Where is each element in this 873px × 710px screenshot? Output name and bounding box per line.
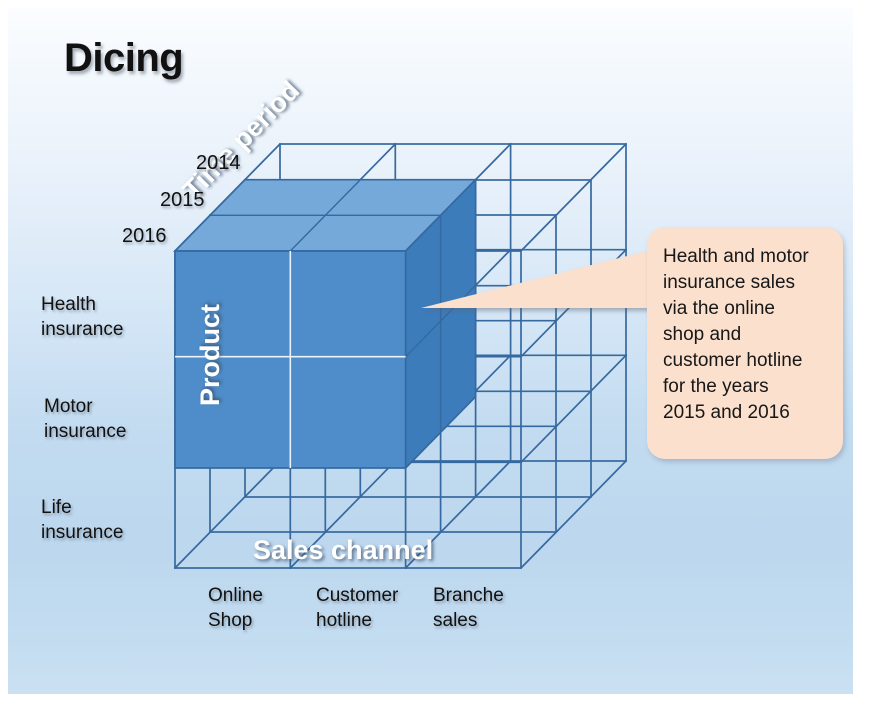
sales-channel-tick-branche-line1: Branche — [433, 583, 504, 608]
slide-background: Dicing — [8, 8, 853, 694]
sales-channel-tick-hotline-line2: hotline — [316, 608, 398, 633]
callout-box: Health and motor insurance sales via the… — [647, 227, 843, 459]
sales-channel-tick-branche-line2: sales — [433, 608, 504, 633]
product-tick-life-line1: Life — [41, 495, 123, 520]
product-tick-health-line1: Health — [41, 292, 123, 317]
sales-channel-tick-online-shop: Online Shop — [208, 583, 263, 633]
callout-line-2: insurance sales — [663, 270, 835, 296]
time-period-tick-2016: 2016 — [122, 224, 167, 249]
sales-channel-tick-online-line1: Online — [208, 583, 263, 608]
product-tick-motor-line2: insurance — [44, 419, 126, 444]
callout-line-4: shop and — [663, 322, 835, 348]
product-tick-motor-insurance: Motor insurance — [44, 394, 126, 444]
product-tick-health-insurance: Health insurance — [41, 292, 123, 342]
product-tick-motor-line1: Motor — [44, 394, 126, 419]
time-period-tick-2014: 2014 — [196, 151, 241, 176]
time-period-tick-2015: 2015 — [160, 188, 205, 213]
sales-channel-tick-hotline-line1: Customer — [316, 583, 398, 608]
callout-line-5: customer hotline — [663, 348, 835, 374]
cube-wireframe — [175, 144, 626, 568]
callout-line-6: for the years — [663, 374, 835, 400]
page-title: Dicing — [64, 36, 183, 81]
sales-channel-tick-online-line2: Shop — [208, 608, 263, 633]
callout-tail — [421, 247, 663, 308]
sales-channel-tick-branche-sales: Branche sales — [433, 583, 504, 633]
product-tick-life-line2: insurance — [41, 520, 123, 545]
slide-canvas: Dicing — [0, 0, 873, 710]
callout-text: Health and motor insurance sales via the… — [663, 244, 835, 426]
callout-line-3: via the online — [663, 296, 835, 322]
axis-label-time-period: Time period — [177, 75, 306, 206]
product-tick-health-line2: insurance — [41, 317, 123, 342]
sales-channel-tick-customer-hotline: Customer hotline — [316, 583, 398, 633]
callout-line-7: 2015 and 2016 — [663, 400, 835, 426]
axis-label-product: Product — [195, 304, 226, 406]
product-tick-life-insurance: Life insurance — [41, 495, 123, 545]
callout-line-1: Health and motor — [663, 244, 835, 270]
axis-label-sales-channel: Sales channel — [253, 535, 433, 566]
